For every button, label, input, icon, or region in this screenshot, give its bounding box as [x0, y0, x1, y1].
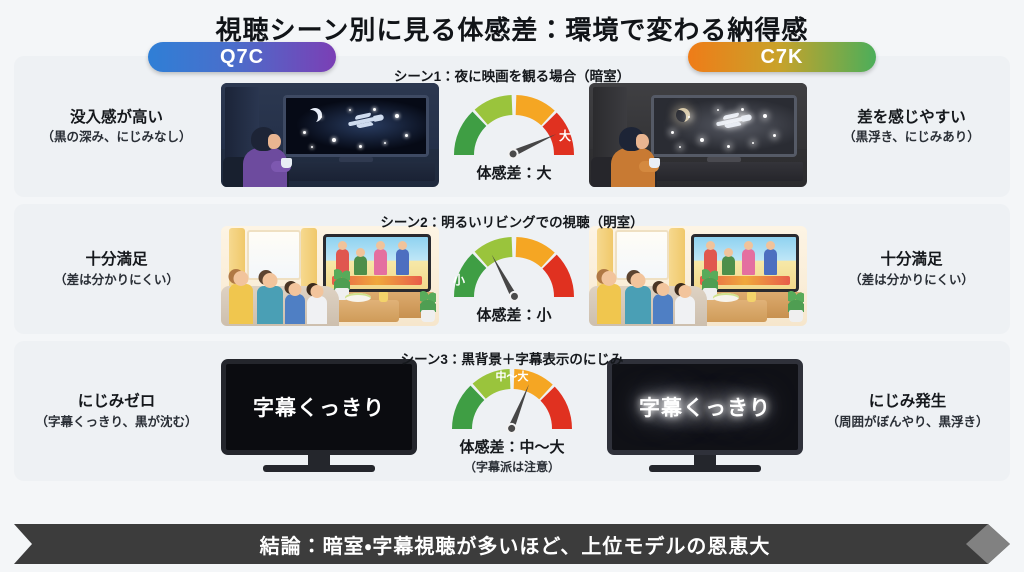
family-figure	[597, 284, 621, 324]
scene-1-left-headline: 没入感が高い	[18, 108, 215, 127]
badge-q7c: Q7C	[148, 42, 336, 72]
scene-1-left-caption: 没入感が高い （黒の深み、にじみなし）	[14, 108, 219, 146]
scene-3-right-headline: にじみ発生	[809, 392, 1006, 411]
scene-3-image-q7c: 字幕くっきり	[221, 359, 417, 475]
gauge-2-zone-label: 小	[453, 271, 465, 288]
scene-panel-1: Q7C C7K シーン1：夜に映画を観る場合（暗室） 没入感が高い （黒の深み、…	[14, 56, 1010, 197]
tv-screen-dark-c7k	[651, 95, 797, 157]
scene-panel-2: シーン2：明るいリビングでの視聴（明室） 十分満足 （差は分かりにくい）	[14, 204, 1010, 334]
scene-2-right-caption: 十分満足 （差は分かりにくい）	[809, 250, 1014, 288]
tv-screen-dark-q7c	[283, 95, 429, 157]
gauge-1-zone-label: 大	[559, 127, 571, 144]
family-figure	[307, 296, 327, 324]
scene-3-left-caption: にじみゼロ （字幕くっきり、黒が沈む）	[14, 392, 219, 430]
scene-2-right-detail: （差は分かりにくい）	[813, 272, 1010, 288]
scene-list: Q7C C7K シーン1：夜に映画を観る場合（暗室） 没入感が高い （黒の深み、…	[0, 56, 1024, 481]
scene-panel-3: シーン3：黒背景＋字幕表示のにじみ にじみゼロ （字幕くっきり、黒が沈む） 字幕…	[14, 341, 1010, 481]
scene-3-image-c7k: 字幕くっきり	[607, 359, 803, 475]
tv-subtitle-right: 字幕くっきり	[639, 392, 771, 422]
badge-c7k: C7K	[688, 42, 876, 72]
family-figure	[229, 284, 253, 324]
scene-1-gauge: 大 体感差：大	[439, 89, 589, 183]
family-figure	[625, 286, 651, 324]
badge-q7c-label: Q7C	[220, 46, 264, 69]
gauge-3-zone-label: 中〜大	[496, 368, 529, 384]
family-figure	[675, 296, 695, 324]
scene-2-gauge: 小 体感差：小	[439, 231, 589, 325]
scene-1-image-q7c	[221, 83, 439, 187]
badge-c7k-label: C7K	[760, 46, 803, 69]
scene-2-right-headline: 十分満足	[813, 250, 1010, 269]
gauge-3-caption-sub: （字幕派は注意）	[464, 458, 560, 475]
family-figure	[285, 294, 305, 324]
scene-2-left-caption: 十分満足 （差は分かりにくい）	[14, 250, 219, 288]
scene-2-image-q7c	[221, 226, 439, 326]
scene-1-left-detail: （黒の深み、にじみなし）	[18, 129, 215, 145]
scene-3-left-detail: （字幕くっきり、黒が沈む）	[18, 414, 215, 430]
scene-2-left-detail: （差は分かりにくい）	[18, 272, 215, 288]
scene-3-left-headline: にじみゼロ	[18, 392, 215, 411]
page-title: 視聴シーン別に見る体感差：環境で変わる納得感	[216, 10, 809, 47]
scene-3-right-caption: にじみ発生 （周囲がぼんやり、黒浮き）	[805, 392, 1010, 430]
scene-1-right-detail: （黒浮き、にじみあり）	[813, 129, 1010, 145]
scene-2-image-c7k	[589, 226, 807, 326]
scene-1-right-headline: 差を感じやすい	[813, 108, 1010, 127]
scene-2-left-headline: 十分満足	[18, 250, 215, 269]
viewer-figure-q7c	[241, 127, 291, 187]
scene-1-image-c7k	[589, 83, 807, 187]
scene-1-right-caption: 差を感じやすい （黒浮き、にじみあり）	[809, 108, 1014, 146]
gauge-2-caption: 体感差：小	[476, 304, 551, 325]
family-figure	[653, 294, 673, 324]
family-figure	[257, 286, 283, 324]
scene-2-label: シーン2：明るいリビングでの視聴（明室）	[14, 211, 1010, 231]
conclusion-banner: 結論：暗室・字幕視聴が多いほど、上位モデルの恩恵大	[14, 524, 1010, 564]
conclusion-text: 結論：暗室・字幕視聴が多いほど、上位モデルの恩恵大	[14, 524, 1010, 564]
gauge-3-caption: 体感差：中〜大	[459, 436, 564, 457]
viewer-figure-c7k	[609, 127, 659, 187]
scene-3-gauge: 中〜大 体感差：中〜大 （字幕派は注意）	[428, 363, 596, 475]
scene-3-right-detail: （周囲がぼんやり、黒浮き）	[809, 414, 1006, 430]
tv-subtitle-left: 字幕くっきり	[253, 392, 385, 422]
gauge-1-caption: 体感差：大	[476, 162, 551, 183]
